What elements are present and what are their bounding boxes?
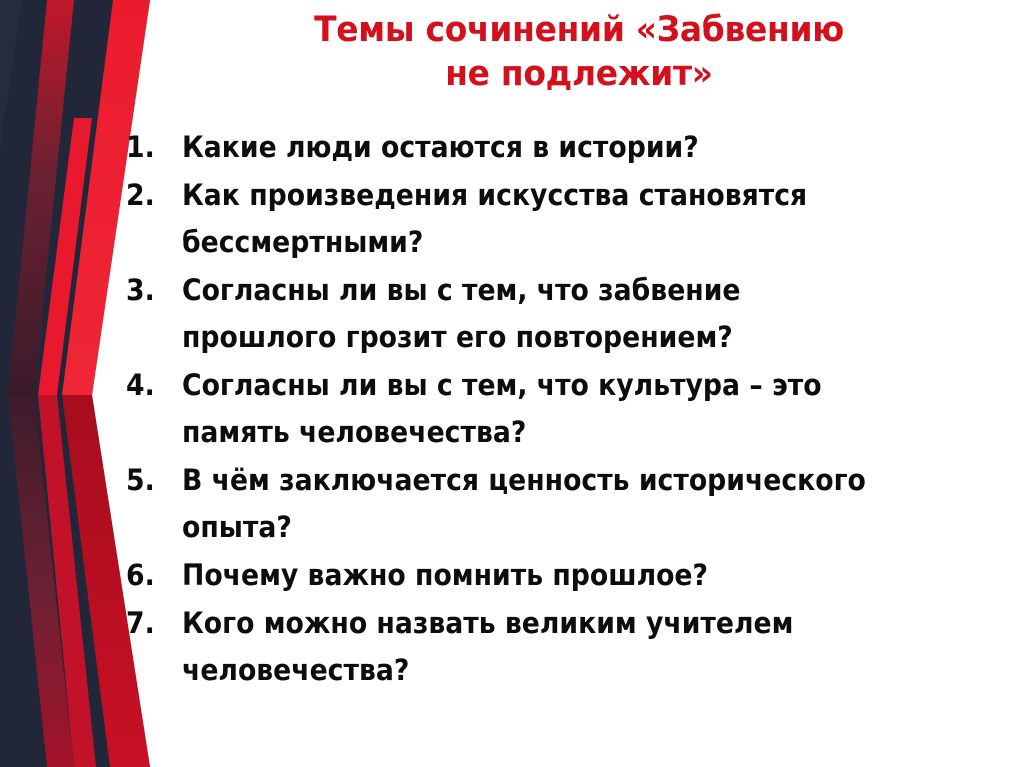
- slide-title: Темы сочинений «Забвению не подлежит»: [160, 8, 998, 96]
- list-item: 1. Какие люди остаются в истории?: [126, 124, 1006, 171]
- list-item-text: Почему важно помнить прошлое?: [182, 552, 889, 599]
- list-item-text: Как произведения искусства становятся бе…: [182, 172, 889, 266]
- list-item: 4. Согласны ли вы с тем, что культура – …: [126, 362, 1006, 456]
- list-item-number: 7.: [126, 600, 178, 647]
- title-line-2: не подлежит»: [185, 52, 973, 96]
- list-item-text: Согласны ли вы с тем, что забвение прошл…: [182, 267, 889, 361]
- list-item-text: Какие люди остаются в истории?: [182, 124, 889, 171]
- list-item: 7. Кого можно назвать великим учителем ч…: [126, 600, 1006, 694]
- list-item-text: В чём заключается ценность исторического…: [182, 457, 889, 551]
- list-item-text: Согласны ли вы с тем, что культура – это…: [182, 362, 889, 456]
- list-item: 3. Согласны ли вы с тем, что забвение пр…: [126, 267, 1006, 361]
- list-item: 5. В чём заключается ценность историческ…: [126, 457, 1006, 551]
- list-item-number: 4.: [126, 362, 178, 409]
- presentation-slide: Темы сочинений «Забвению не подлежит» 1.…: [0, 0, 1024, 767]
- list-item: 6. Почему важно помнить прошлое?: [126, 552, 1006, 599]
- list-item-number: 6.: [126, 552, 178, 599]
- essay-topics-list: 1. Какие люди остаются в истории? 2. Как…: [126, 124, 1006, 695]
- list-item-number: 5.: [126, 457, 178, 504]
- list-item-text: Кого можно назвать великим учителем чело…: [182, 600, 889, 694]
- list-item-number: 2.: [126, 172, 178, 219]
- list-item: 2. Как произведения искусства становятся…: [126, 172, 1006, 266]
- title-line-1: Темы сочинений «Забвению: [185, 8, 973, 52]
- list-item-number: 3.: [126, 267, 178, 314]
- list-item-number: 1.: [126, 124, 178, 171]
